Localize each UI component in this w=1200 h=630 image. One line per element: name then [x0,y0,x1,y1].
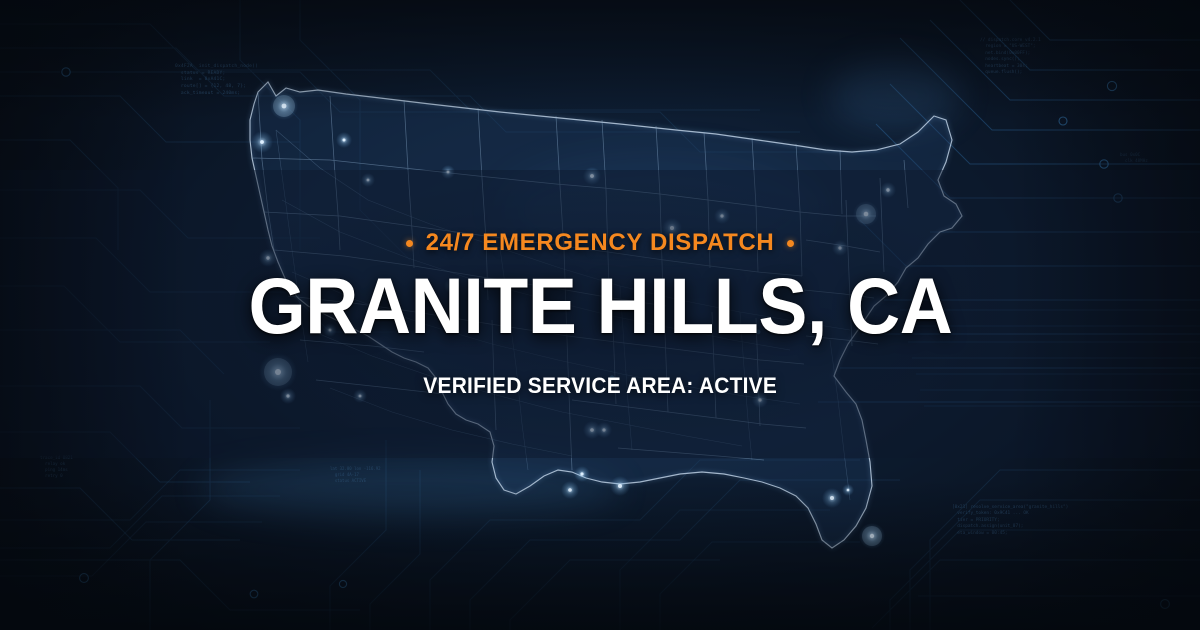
eyebrow-emergency-dispatch: 24/7 EMERGENCY DISPATCH [406,231,795,255]
hero-content: 24/7 EMERGENCY DISPATCH GRANITE HILLS, C… [0,0,1200,630]
status-badge: VERIFIED SERVICE AREA: ACTIVE [423,373,777,399]
page-title: GRANITE HILLS, CA [248,266,952,347]
bullet-dot-left-icon [406,240,413,247]
bullet-dot-right-icon [787,240,794,247]
hero-banner: 0x4F2A init_dispatch_node() status = REA… [0,0,1200,630]
eyebrow-label: 24/7 EMERGENCY DISPATCH [426,231,775,255]
